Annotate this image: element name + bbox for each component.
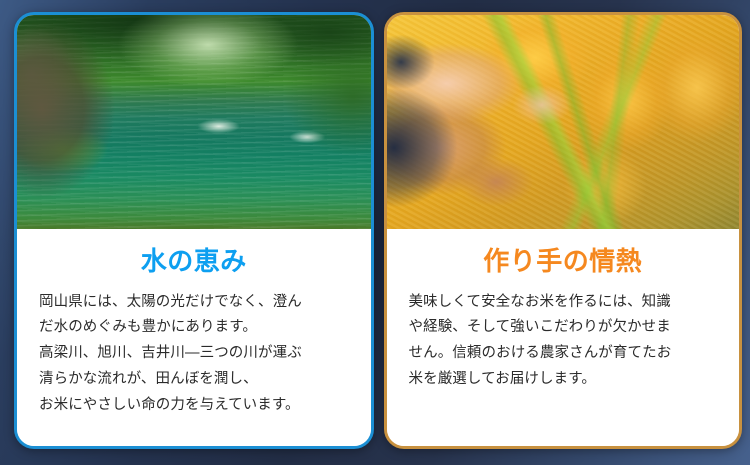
card-text-panel: 作り手の情熱 美味しくて安全なお米を作るには、知識 や経験、そして強いこだわりが…: [387, 229, 740, 446]
body-line: だ水のめぐみも豊かにあります。: [39, 315, 349, 341]
body-line: 美味しくて安全なお米を作るには、知識: [409, 290, 718, 316]
card-body: 岡山県には、太陽の光だけでなく、澄ん だ水のめぐみも豊かにあります。 高梁川、旭…: [39, 290, 349, 419]
body-line: お米にやさしい命の力を与えています。: [39, 393, 349, 419]
feature-card-growers-passion[interactable]: 作り手の情熱 美味しくて安全なお米を作るには、知識 や経験、そして強いこだわりが…: [384, 12, 743, 449]
card-body: 美味しくて安全なお米を作るには、知識 や経験、そして強いこだわりが欠かせま せん…: [409, 290, 718, 393]
body-line: 米を厳選してお届けします。: [409, 367, 718, 393]
body-line: 高梁川、旭川、吉井川―三つの川が運ぶ: [39, 341, 349, 367]
body-line: や経験、そして強いこだわりが欠かせま: [409, 315, 718, 341]
card-title: 水の恵み: [39, 247, 349, 276]
card-text-panel: 水の恵み 岡山県には、太陽の光だけでなく、澄ん だ水のめぐみも豊かにあります。 …: [17, 229, 371, 446]
body-line: 清らかな流れが、田んぼを潤し、: [39, 367, 349, 393]
feature-card-water-blessing[interactable]: 水の恵み 岡山県には、太陽の光だけでなく、澄ん だ水のめぐみも豊かにあります。 …: [14, 12, 374, 449]
card-title: 作り手の情熱: [409, 247, 718, 276]
card-grid: 水の恵み 岡山県には、太陽の光だけでなく、澄ん だ水のめぐみも豊かにあります。 …: [0, 0, 750, 465]
river-photo: [17, 15, 371, 229]
rice-harvest-photo: [387, 15, 740, 229]
body-line: 岡山県には、太陽の光だけでなく、澄ん: [39, 290, 349, 316]
body-line: せん。信頼のおける農家さんが育てたお: [409, 341, 718, 367]
